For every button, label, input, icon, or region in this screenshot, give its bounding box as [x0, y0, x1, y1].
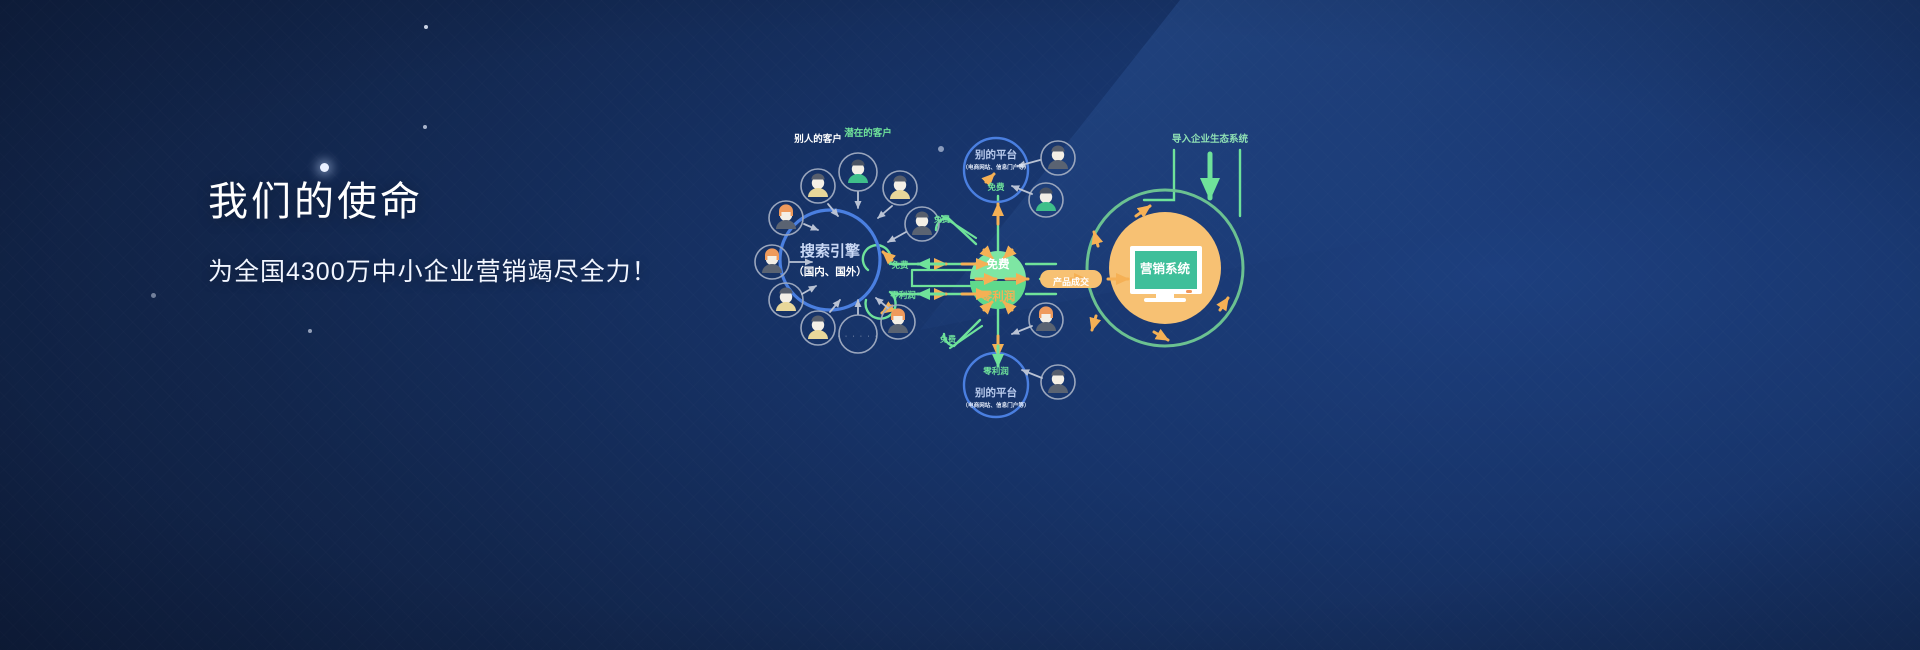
hero-banner: 我们的使命 为全国4300万中小企业营销竭尽全力！ — [0, 0, 1920, 650]
avatar — [769, 201, 803, 235]
edge-label-deal: 产品成交 — [1053, 276, 1089, 287]
avatar — [801, 169, 835, 203]
avatar — [883, 171, 917, 205]
edge-label-zero-profit-1: 零利润 — [889, 290, 916, 300]
avatar — [755, 245, 789, 279]
avatar — [801, 311, 835, 345]
hub-free-label: 免费 — [987, 257, 1010, 271]
sparkle-dot — [423, 125, 427, 129]
edge-label-free-1: 免费 — [891, 260, 909, 270]
avatar — [1029, 183, 1063, 217]
page-subtitle: 为全国4300万中小企业营销竭尽全力！ — [208, 256, 658, 289]
edge-label-free-2: 免费 — [934, 214, 950, 224]
node-platform-bottom-badge: 零利润 — [982, 366, 1009, 376]
node-search-engine-title: 搜索引擎 — [800, 242, 860, 260]
edge-label-free-3: 免费 — [940, 334, 956, 344]
hero-copy: 我们的使命 为全国4300万中小企业营销竭尽全力！ — [208, 178, 658, 289]
node-platform-bottom-sub: （电商网站、信息门户等） — [962, 401, 1029, 409]
sparkle-dot — [308, 329, 312, 333]
node-platform-top-sub: （电商网站、信息门户等） — [962, 163, 1029, 171]
sparkle-dot — [151, 293, 156, 298]
ecosystem-diagram: · · · · · · — [740, 120, 1300, 420]
search-engine-ring — [780, 210, 880, 310]
avatar — [881, 305, 915, 339]
sparkle-dot — [320, 163, 329, 172]
avatar-placeholder: · · · · · · — [837, 315, 878, 353]
avatar — [905, 207, 939, 241]
node-platform-top-title: 别的平台 — [974, 148, 1017, 161]
label-potential-customers: 潜在的客户 — [844, 127, 892, 139]
label-others-customers: 别人的客户 — [793, 133, 842, 145]
node-marketing-system-label: 营销系统 — [1140, 261, 1191, 276]
node-search-engine-sub: （国内、国外） — [793, 265, 867, 278]
avatar — [839, 153, 877, 191]
sparkle-dot — [424, 25, 428, 29]
hub-zero-profit-label: 零利润 — [980, 289, 1016, 303]
avatar — [1029, 303, 1063, 337]
avatar — [1041, 141, 1075, 175]
avatar-placeholder-label: · · · · · · — [837, 333, 878, 340]
label-import-ecosystem: 导入企业生态系统 — [1172, 133, 1249, 145]
avatar — [1041, 365, 1075, 399]
node-platform-bottom-title: 别的平台 — [974, 386, 1017, 399]
node-platform-top-badge: 免费 — [987, 182, 1005, 192]
page-title: 我们的使命 — [208, 178, 658, 226]
